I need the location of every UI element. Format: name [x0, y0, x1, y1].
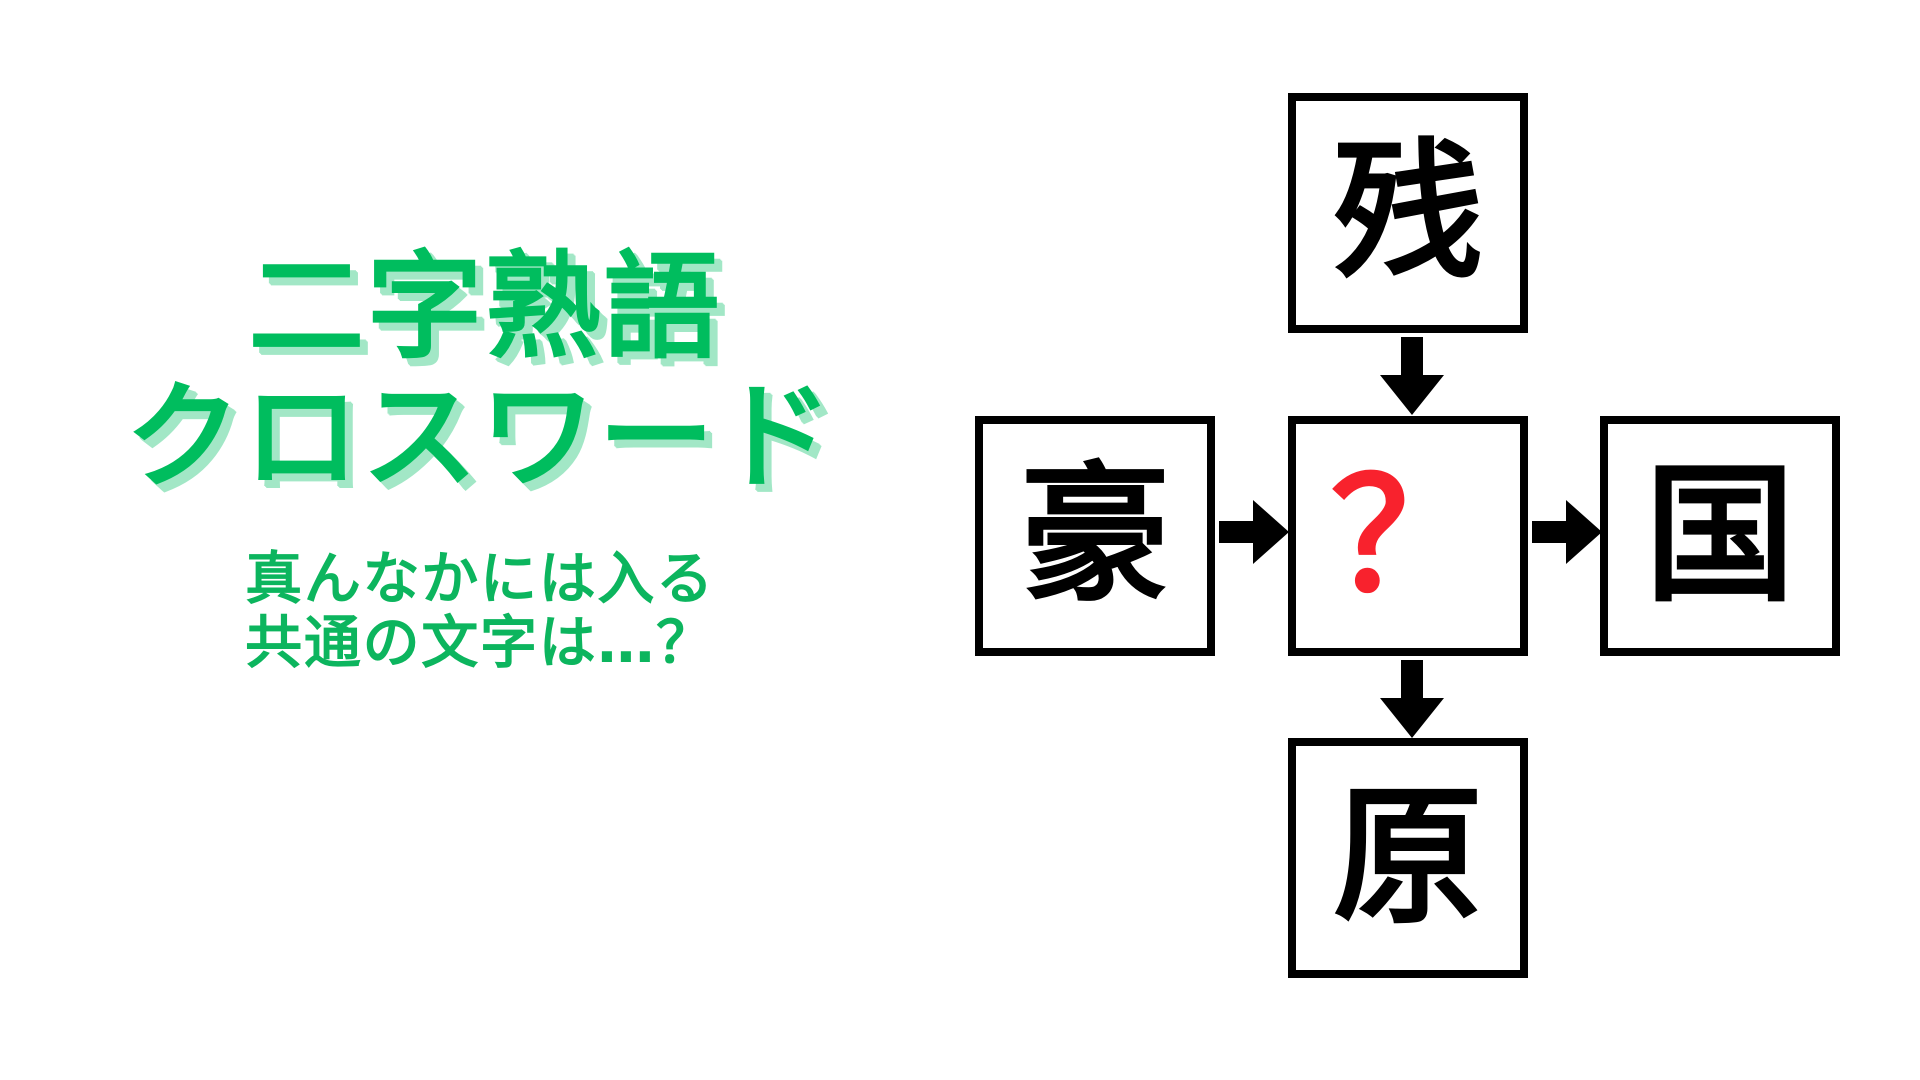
title-block: 二字熟語 クロスワード 真んなかには入る 共通の文字は…？: [0, 250, 960, 830]
slide-canvas: 二字熟語 クロスワード 真んなかには入る 共通の文字は…？ 残 豪 ？ 国 原: [0, 0, 1920, 1080]
cell-left[interactable]: 豪: [975, 416, 1215, 656]
crossword-grid: 残 豪 ？ 国 原: [960, 0, 1920, 1080]
center-unknown-question-mark: ？: [1331, 459, 1486, 614]
top-kanji: 残: [1333, 138, 1483, 288]
subtitle-block: 真んなかには入る 共通の文字は…？: [0, 548, 960, 676]
cell-right[interactable]: 国: [1600, 416, 1840, 656]
cell-center-answer[interactable]: ？: [1288, 416, 1528, 656]
subtitle-line-1: 真んなかには入る: [0, 548, 960, 612]
cell-bottom[interactable]: 原: [1288, 738, 1528, 978]
right-kanji: 国: [1645, 461, 1795, 611]
subtitle-line-2: 共通の文字は…？: [0, 612, 960, 676]
arrow-down-icon-top-to-center: [1380, 337, 1444, 415]
page-title-line-2: クロスワード: [0, 380, 960, 496]
page-title-line-1: 二字熟語: [10, 250, 960, 366]
arrow-right-icon-center-to-right: [1532, 500, 1602, 564]
bottom-kanji: 原: [1333, 783, 1483, 933]
left-kanji: 豪: [1020, 461, 1170, 611]
arrow-right-icon-left-to-center: [1219, 500, 1289, 564]
cell-top[interactable]: 残: [1288, 93, 1528, 333]
arrow-down-icon-center-to-bottom: [1380, 660, 1444, 738]
